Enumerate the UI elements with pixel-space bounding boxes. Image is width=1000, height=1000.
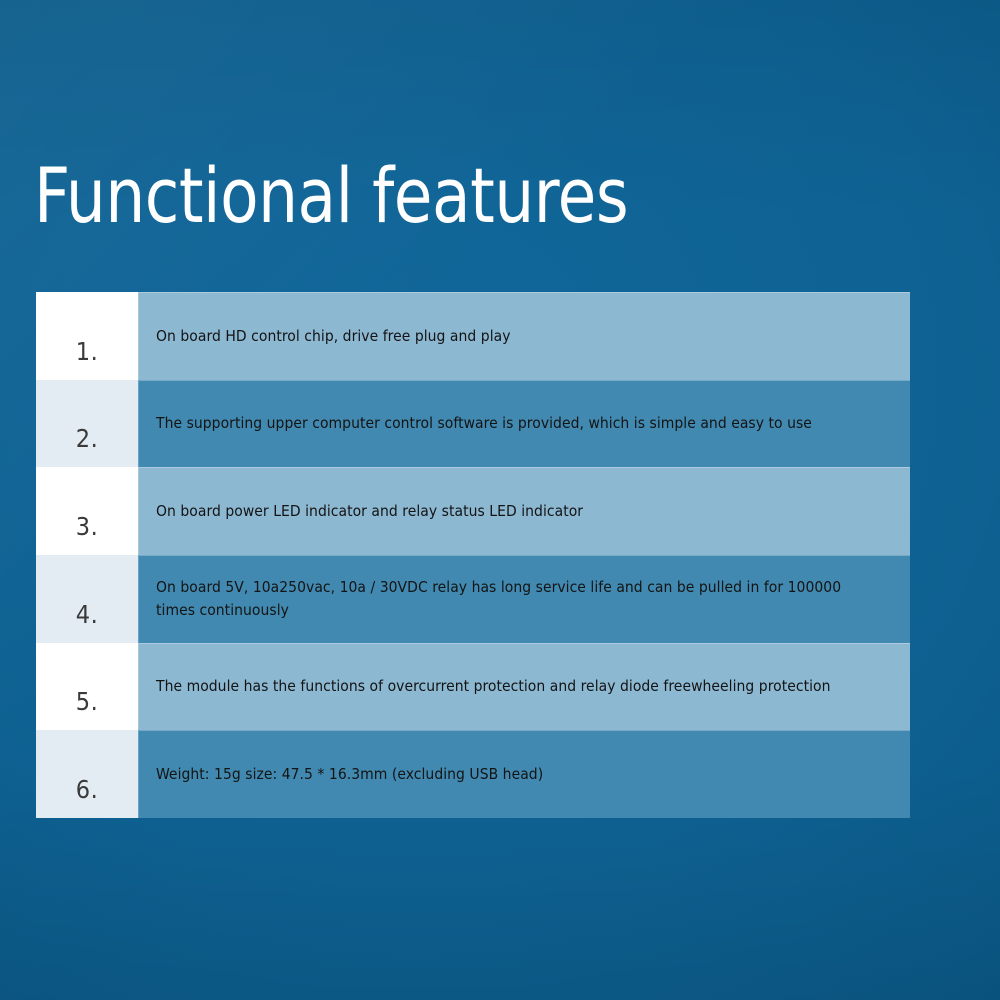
table-row: 5. The module has the functions of overc… (36, 643, 910, 731)
table-row: 1. On board HD control chip, drive free … (36, 292, 910, 380)
row-text: On board power LED indicator and relay s… (156, 500, 856, 524)
row-number-cell: 1. (36, 292, 138, 380)
table-row: 2. The supporting upper computer control… (36, 380, 910, 468)
row-number: 5. (76, 687, 98, 716)
table-row: 6. Weight: 15g size: 47.5 * 16.3mm (excl… (36, 730, 910, 818)
row-number-cell: 2. (36, 380, 138, 468)
row-text: On board 5V, 10a250vac, 10a / 30VDC rela… (156, 576, 856, 623)
table-row: 4. On board 5V, 10a250vac, 10a / 30VDC r… (36, 555, 910, 643)
table-row: 3. On board power LED indicator and rela… (36, 467, 910, 555)
slide-canvas: Functional features 1. On board HD contr… (0, 0, 1000, 1000)
row-text-cell: On board HD control chip, drive free plu… (138, 292, 910, 380)
row-text: The supporting upper computer control so… (156, 412, 856, 436)
page-title: Functional features (34, 158, 628, 234)
row-number-cell: 4. (36, 555, 138, 643)
row-text: On board HD control chip, drive free plu… (156, 325, 856, 349)
row-text-cell: The module has the functions of overcurr… (138, 643, 910, 731)
row-text-cell: On board power LED indicator and relay s… (138, 467, 910, 555)
row-text: The module has the functions of overcurr… (156, 675, 856, 699)
row-number: 6. (76, 775, 98, 804)
row-number-cell: 5. (36, 643, 138, 731)
row-number-cell: 6. (36, 730, 138, 818)
row-number: 3. (76, 512, 98, 541)
row-number: 2. (76, 424, 98, 453)
features-table: 1. On board HD control chip, drive free … (36, 292, 910, 818)
row-number: 4. (76, 600, 98, 629)
row-text: Weight: 15g size: 47.5 * 16.3mm (excludi… (156, 763, 856, 787)
row-number-cell: 3. (36, 467, 138, 555)
row-text-cell: On board 5V, 10a250vac, 10a / 30VDC rela… (138, 555, 910, 643)
row-text-cell: Weight: 15g size: 47.5 * 16.3mm (excludi… (138, 730, 910, 818)
row-number: 1. (76, 337, 98, 366)
row-text-cell: The supporting upper computer control so… (138, 380, 910, 468)
